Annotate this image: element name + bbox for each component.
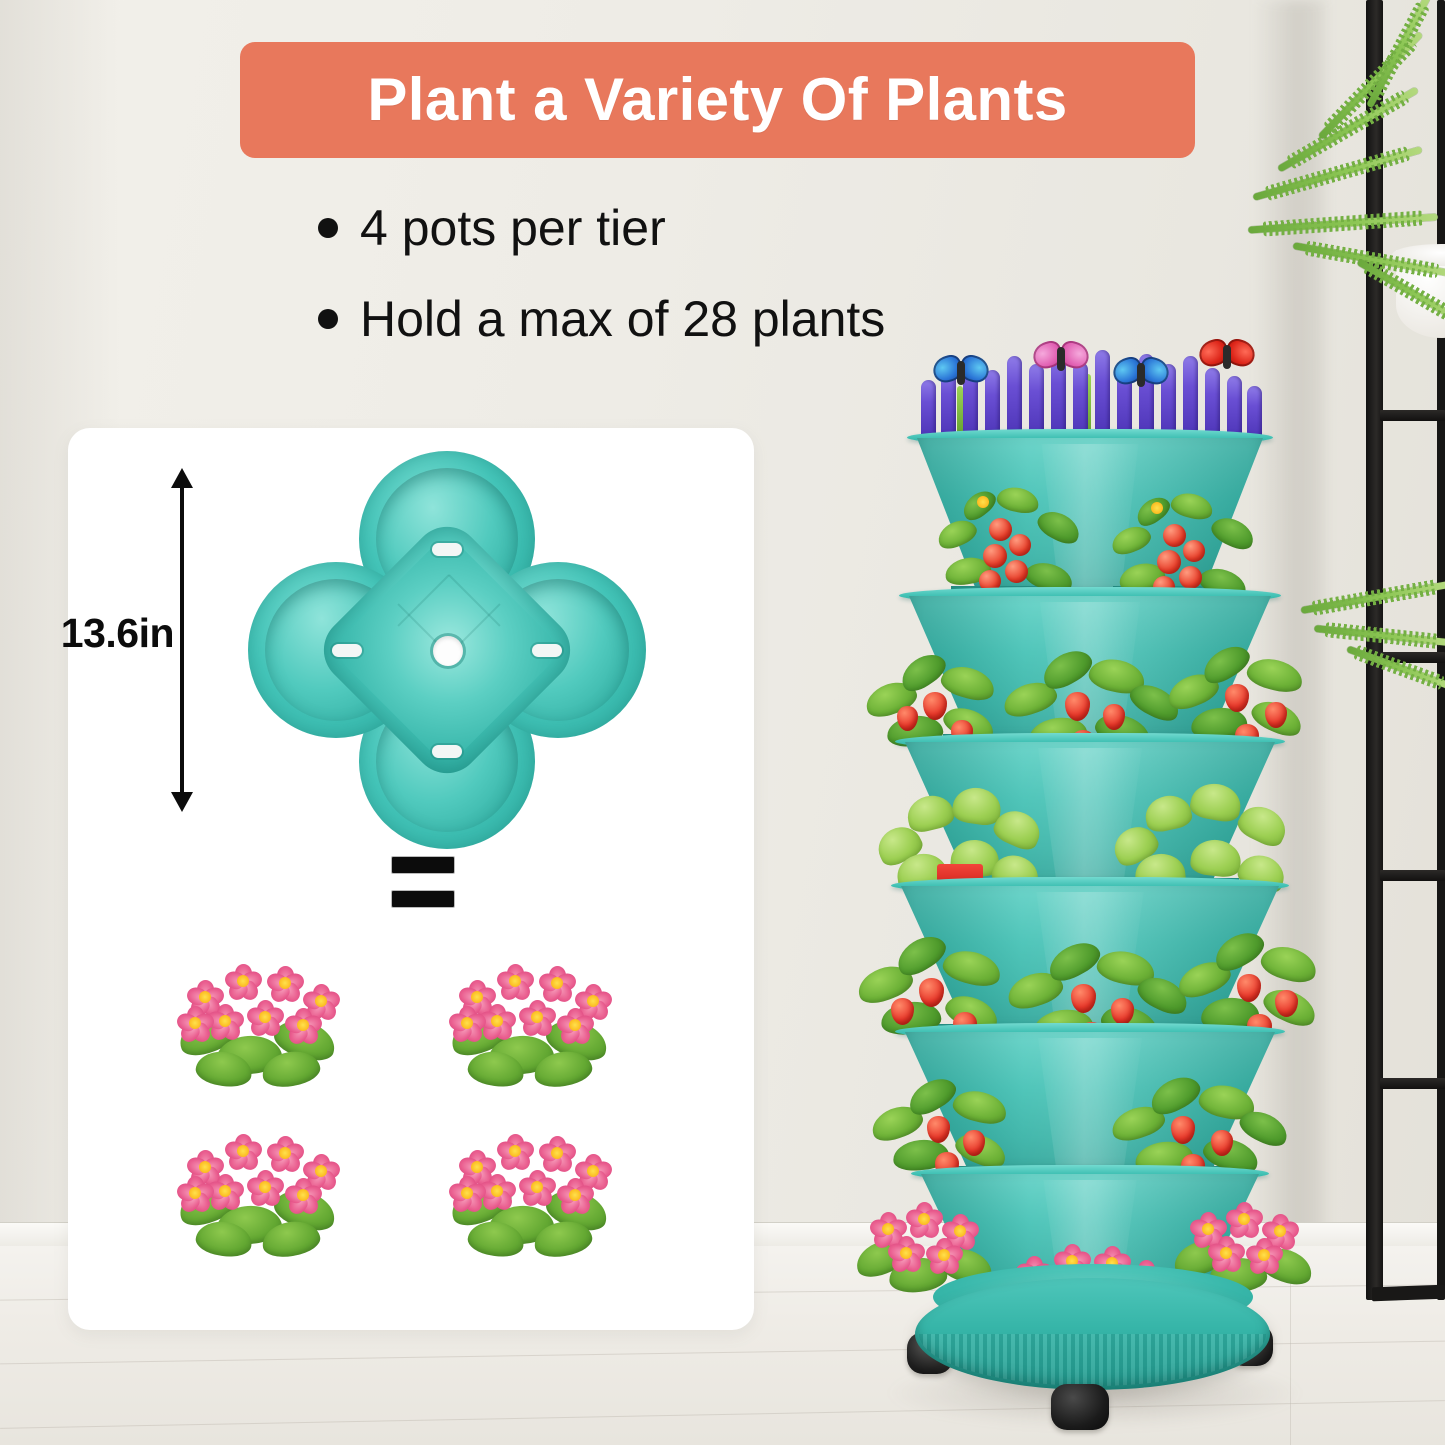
dimension-line bbox=[180, 482, 184, 798]
page-title: Plant a Variety Of Plants bbox=[367, 70, 1067, 130]
butterfly-red-icon bbox=[1199, 340, 1255, 374]
feature-item: Hold a max of 28 plants bbox=[318, 293, 885, 346]
planter-top-view bbox=[252, 455, 642, 845]
shelf-foot bbox=[1372, 1285, 1445, 1302]
shelf-rail bbox=[1380, 1078, 1445, 1089]
feature-label: Hold a max of 28 plants bbox=[360, 293, 885, 346]
primrose-icon bbox=[450, 952, 626, 1094]
bullet-dot-icon bbox=[318, 309, 338, 329]
shelf-rail bbox=[1380, 870, 1445, 881]
drain-slot-icon bbox=[432, 745, 462, 758]
drain-slot-icon bbox=[332, 644, 362, 657]
room-scene: Plant a Variety Of Plants 4 pots per tie… bbox=[0, 0, 1445, 1445]
primrose-icon bbox=[178, 1122, 354, 1264]
butterfly-blue-icon bbox=[1113, 358, 1169, 392]
feature-list: 4 pots per tier Hold a max of 28 plants bbox=[318, 202, 885, 383]
arrow-down-icon bbox=[171, 792, 193, 812]
title-banner: Plant a Variety Of Plants bbox=[240, 42, 1195, 158]
drain-slot-icon bbox=[432, 543, 462, 556]
fern-plant-upper bbox=[1240, 30, 1445, 280]
primrose-icon bbox=[178, 952, 354, 1094]
shelf-rail bbox=[1380, 410, 1445, 421]
butterfly-pink-icon bbox=[1033, 342, 1089, 376]
equals-sign-icon bbox=[392, 857, 454, 907]
muscari-flowers bbox=[917, 338, 1267, 443]
drain-slot-icon bbox=[532, 644, 562, 657]
center-drain-hole bbox=[433, 636, 463, 666]
planter-tower[interactable] bbox=[855, 338, 1325, 1445]
dimension-label: 13.6in bbox=[4, 610, 174, 657]
primrose-icon bbox=[450, 1122, 626, 1264]
feature-label: 4 pots per tier bbox=[360, 202, 666, 255]
feature-item: 4 pots per tier bbox=[318, 202, 885, 255]
caster-wheel-icon bbox=[1051, 1384, 1109, 1430]
butterfly-blue-icon bbox=[933, 356, 989, 390]
bullet-dot-icon bbox=[318, 218, 338, 238]
